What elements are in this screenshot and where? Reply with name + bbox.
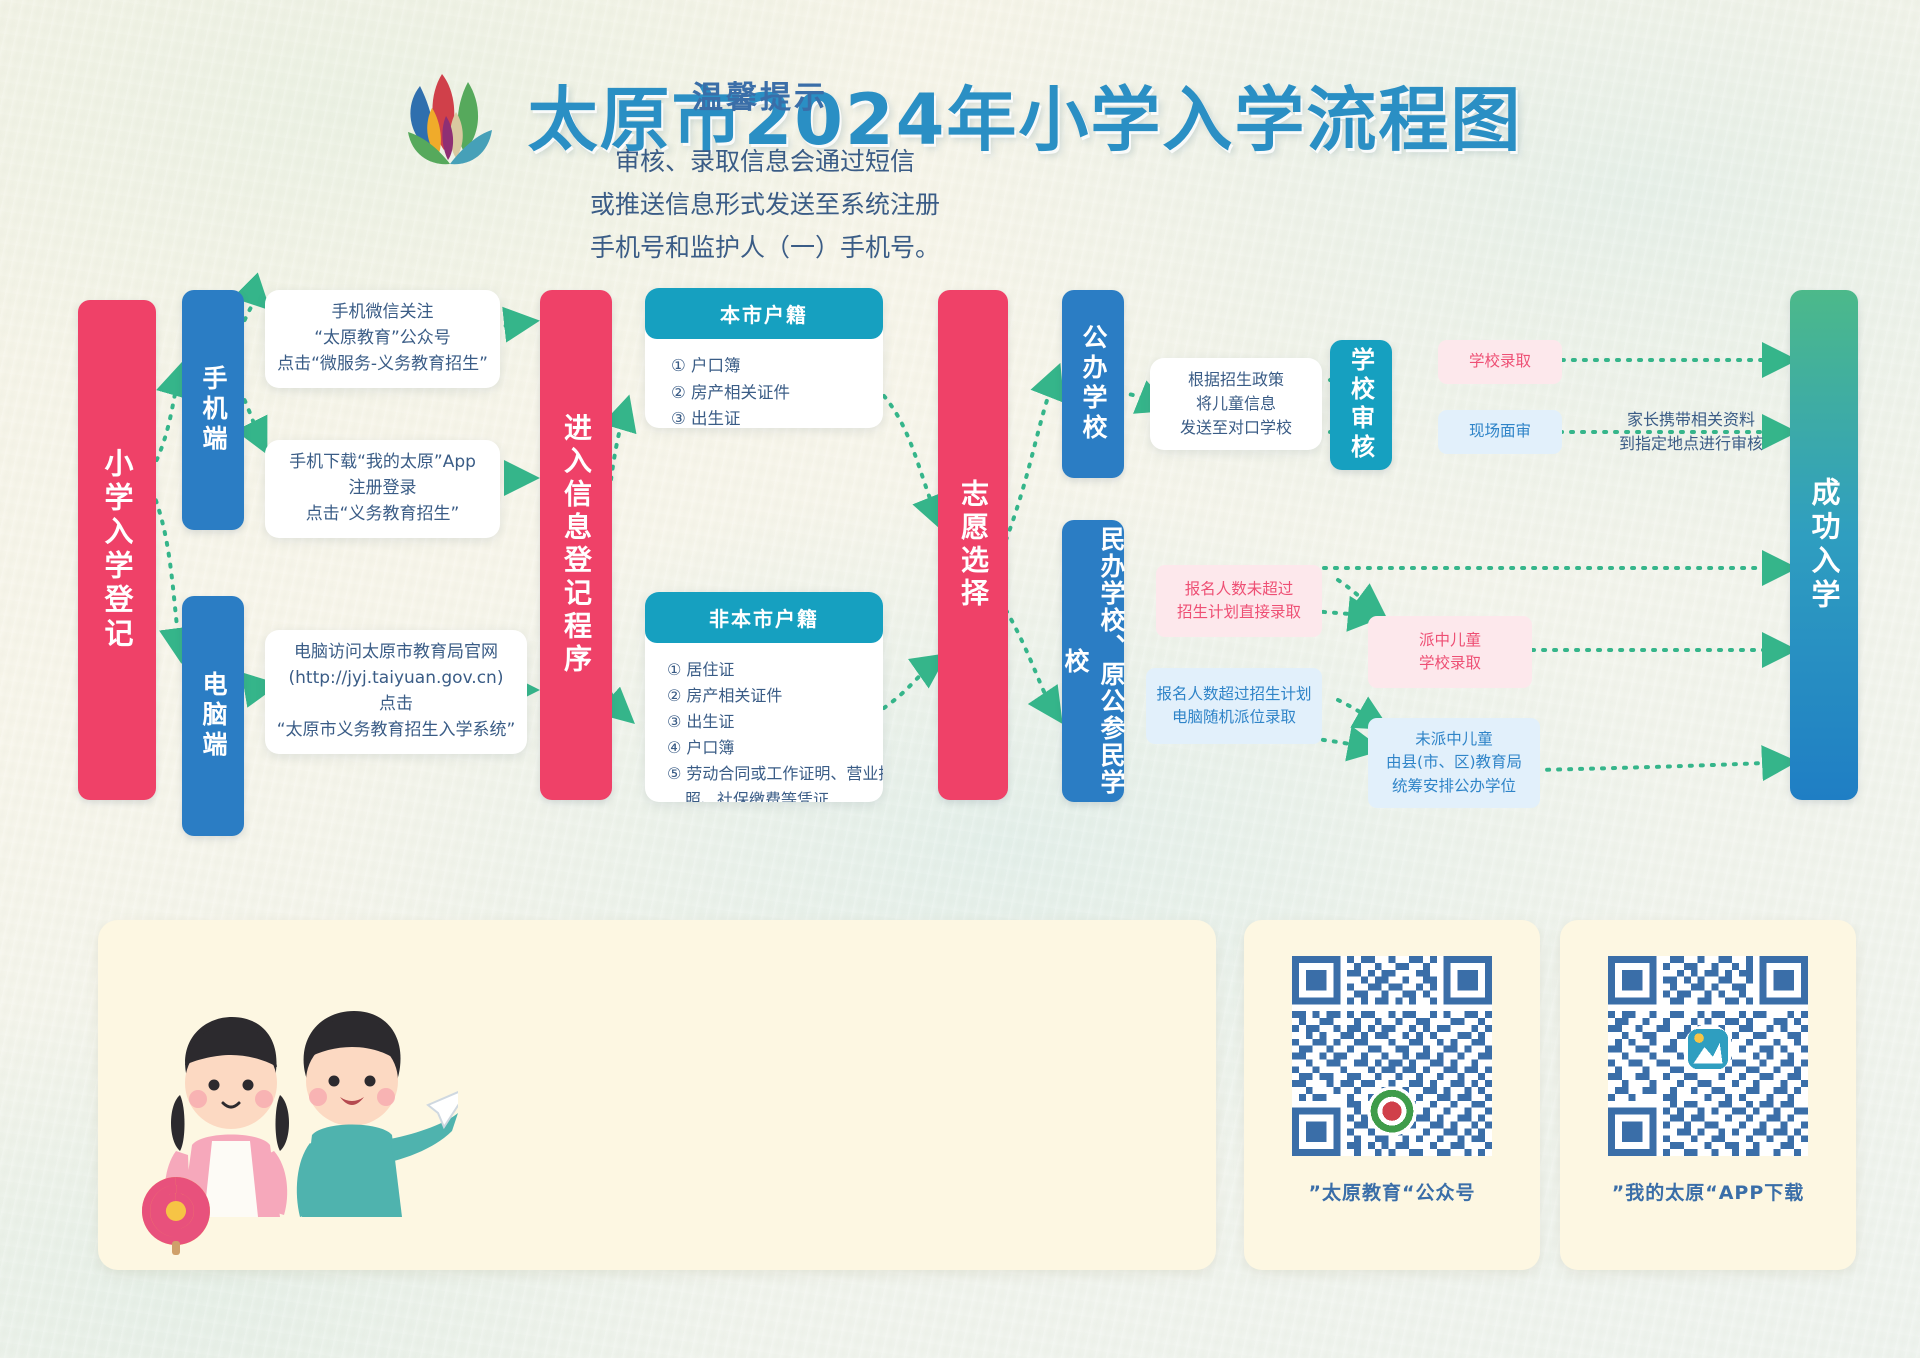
tips-line-3: 手机号和监护人（一）手机号。 [520,226,1010,269]
public-note-line-3: 发送至对口学校 [1180,416,1292,440]
two-children-illustration [128,955,458,1255]
mobile-wechat-line-2: “太原教育”公众号 [314,326,451,352]
tag-private-direct-admit[interactable]: 报名人数未超过 招生计划直接录取 [1156,565,1322,637]
tips-line-2: 或推送信息形式发送至系统注册 [520,183,1010,226]
mobile-app-line-1: 手机下载“我的太原”App [289,450,476,476]
card-local-body: ① 户口簿 ② 房产相关证件 ③ 出生证 [645,339,883,428]
mobile-app-line-2: 注册登录 [349,476,417,502]
node-volunteer-choice[interactable]: 志愿选择 [938,290,1008,800]
box-pc-site[interactable]: 电脑访问太原市教育局官网 (http://jyj.taiyuan.gov.cn)… [265,630,527,754]
pc-site-line-1: 电脑访问太原市教育局官网 [294,640,498,666]
qr-card-app[interactable]: ”我的太原“APP下载 [1560,920,1856,1270]
nonlocal-item-1: ① 居住证 [667,657,883,683]
onsite-review-label: 现场面审 [1469,420,1531,443]
card-nonlocal-body: ① 居住证 ② 房产相关证件 ③ 出生证 ④ 户口簿 ⑤ 劳动合同或工作证明、营… [645,643,883,802]
mobile-wechat-line-1: 手机微信关注 [332,300,434,326]
tag-lottery-unselected[interactable]: 未派中儿童 由县(市、区)教育局 统筹安排公办学位 [1368,718,1540,808]
pc-site-line-4: “太原市义务教育招生入学系统” [277,718,516,744]
nonlocal-item-2: ② 房产相关证件 [667,683,883,709]
pc-site-line-3: 点击 [379,692,413,718]
qr-wechat-label: ”太原教育“公众号 [1309,1178,1476,1205]
private-lottery-line-2: 电脑随机派位录取 [1172,706,1296,729]
lottery-unselected-line-2: 由县(市、区)教育局 [1386,751,1522,774]
lottery-unselected-line-1: 未派中儿童 [1415,728,1493,751]
lottery-selected-line-1: 派中儿童 [1419,629,1481,652]
node-private-school[interactable]: 民办学校、原公参民学校 [1062,520,1124,802]
nonlocal-item-4: ④ 户口簿 [667,735,883,761]
nonlocal-item-6: 照、社保缴费等凭证 [667,787,883,802]
school-admitted-label: 学校录取 [1469,350,1531,373]
nonlocal-item-3: ③ 出生证 [667,709,883,735]
local-item-3: ③ 出生证 [671,406,883,428]
public-note-line-2: 将儿童信息 [1196,392,1276,416]
tag-private-lottery[interactable]: 报名人数超过招生计划 电脑随机派位录取 [1146,668,1322,744]
lottery-selected-line-2: 学校录取 [1419,652,1481,675]
box-mobile-app[interactable]: 手机下载“我的太原”App 注册登录 点击“义务教育招生” [265,440,500,538]
card-local-title: 本市户籍 [645,288,883,339]
card-nonlocal-household[interactable]: 非本市户籍 ① 居住证 ② 房产相关证件 ③ 出生证 ④ 户口簿 ⑤ 劳动合同或… [645,592,883,802]
qr-card-wechat[interactable]: ”太原教育“公众号 [1244,920,1540,1270]
onsite-note-line-1: 家长携带相关资料 [1627,408,1755,432]
public-note-line-1: 根据招生政策 [1188,368,1284,392]
box-mobile-wechat[interactable]: 手机微信关注 “太原教育”公众号 点击“微服务-义务教育招生” [265,290,500,388]
tag-onsite-review[interactable]: 现场面审 [1438,410,1562,454]
private-lottery-line-1: 报名人数超过招生计划 [1156,683,1311,706]
node-public-school[interactable]: 公办学校 [1062,290,1124,478]
private-direct-line-1: 报名人数未超过 [1185,578,1294,601]
private-direct-line-2: 招生计划直接录取 [1177,601,1301,624]
node-pc-channel[interactable]: 电脑端 [182,596,244,836]
tag-school-admitted[interactable]: 学校录取 [1438,340,1562,384]
mobile-wechat-line-3: 点击“微服务-义务教育招生” [277,352,488,378]
node-mobile-channel[interactable]: 手机端 [182,290,244,530]
local-item-2: ② 房产相关证件 [671,380,883,407]
pc-site-line-2: (http://jyj.taiyuan.gov.cn) [289,666,504,692]
node-start[interactable]: 小学入学登记 [78,300,156,800]
box-public-policy-note[interactable]: 根据招生政策 将儿童信息 发送至对口学校 [1150,358,1322,450]
node-school-review[interactable]: 学校审核 [1330,340,1392,470]
qr-taiyuan-education-wechat[interactable] [1292,956,1492,1156]
tips-title: 温馨提示 [560,72,960,117]
node-register-program[interactable]: 进入信息登记程序 [540,290,612,800]
lottery-unselected-line-3: 统筹安排公办学位 [1392,775,1516,798]
local-item-1: ① 户口簿 [671,353,883,380]
tips-body: 审核、录取信息会通过短信 或推送信息形式发送至系统注册 手机号和监护人（一）手机… [520,140,1010,269]
tag-lottery-selected[interactable]: 派中儿童 学校录取 [1368,616,1532,688]
tips-line-1: 审核、录取信息会通过短信 [520,140,1010,183]
onsite-note-line-2: 到指定地点进行审核 [1619,432,1763,456]
card-local-household[interactable]: 本市户籍 ① 户口簿 ② 房产相关证件 ③ 出生证 [645,288,883,428]
mobile-app-line-3: 点击“义务教育招生” [306,502,460,528]
nonlocal-item-5: ⑤ 劳动合同或工作证明、营业执 [667,761,883,787]
box-onsite-note: 家长携带相关资料 到指定地点进行审核 [1586,404,1796,460]
card-nonlocal-title: 非本市户籍 [645,592,883,643]
qr-my-taiyuan-app[interactable] [1608,956,1808,1156]
qr-app-label: ”我的太原“APP下载 [1612,1178,1805,1205]
node-success-enrollment[interactable]: 成功入学 [1790,290,1858,800]
